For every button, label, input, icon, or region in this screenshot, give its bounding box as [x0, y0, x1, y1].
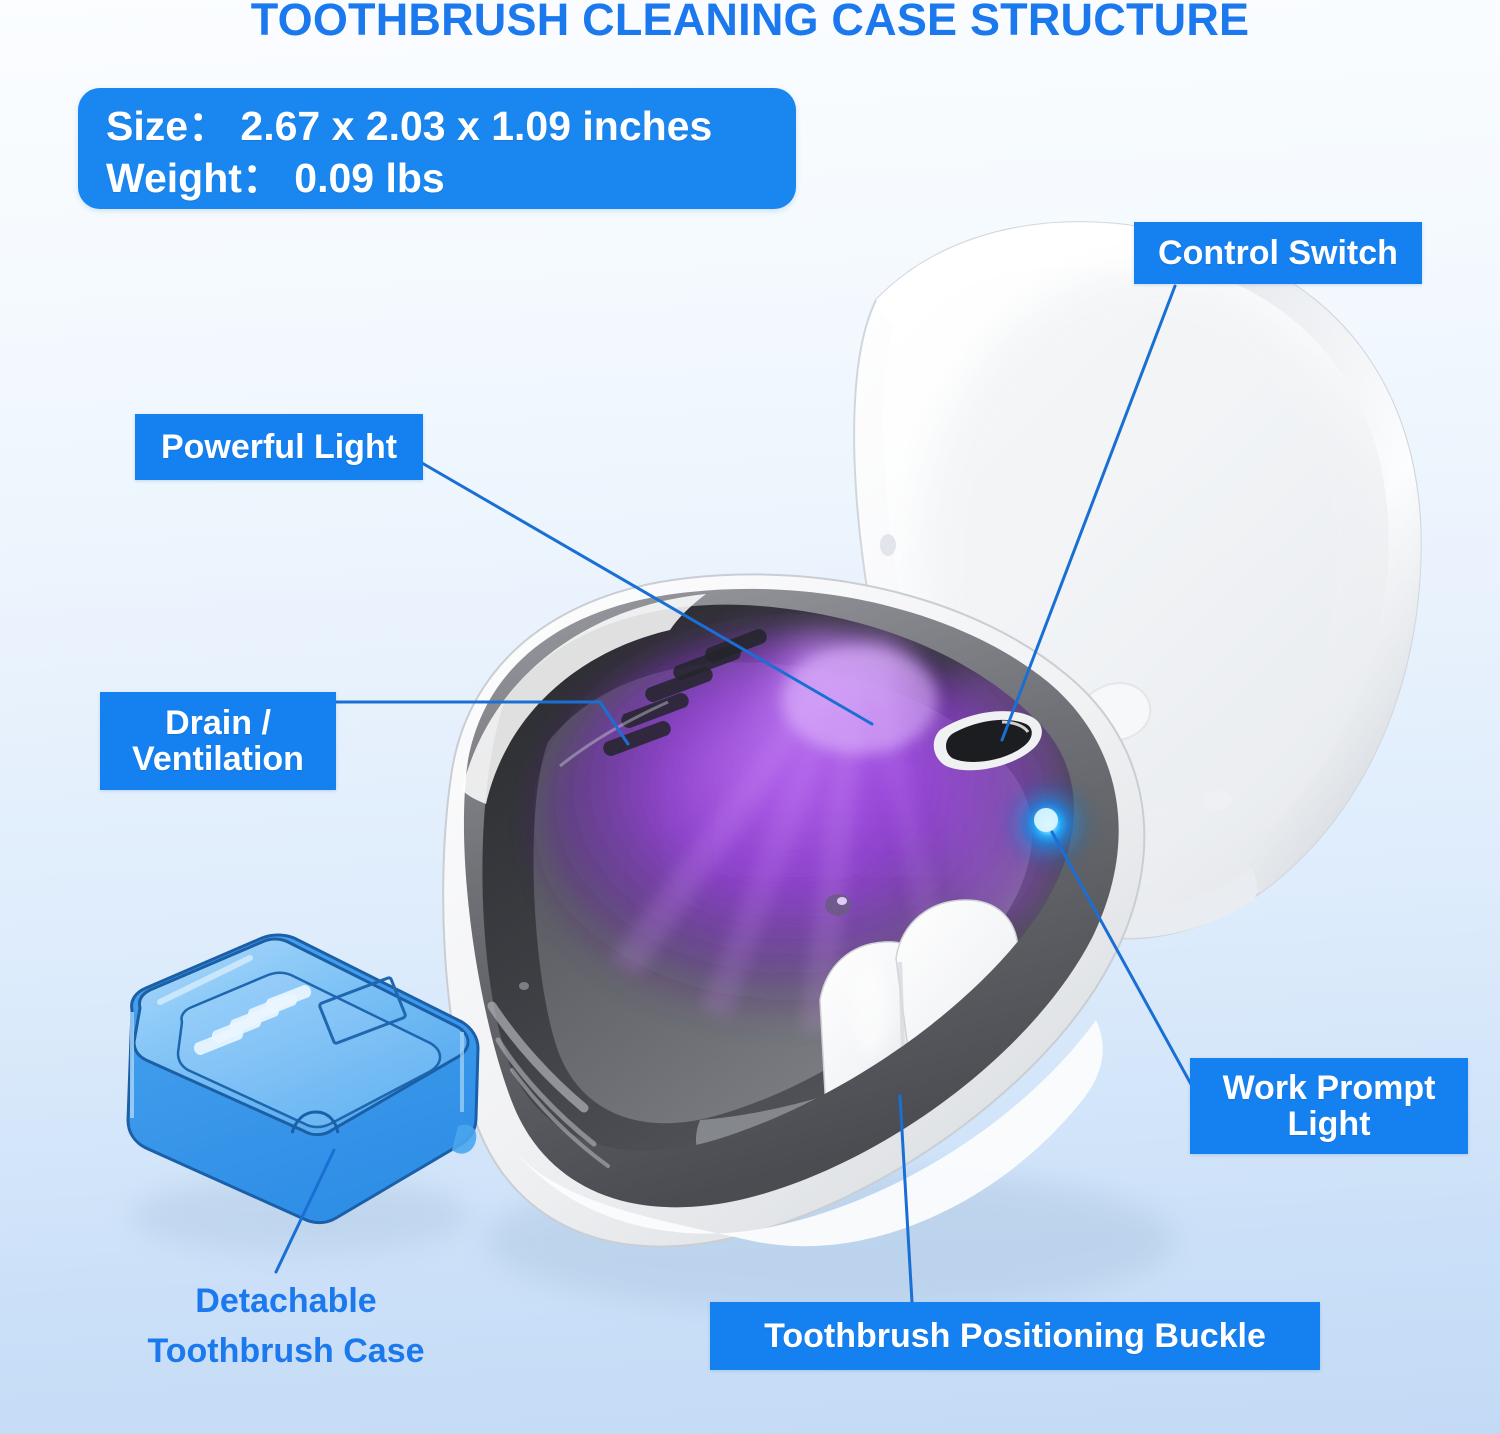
callout-toothbrush-positioning-buckle: Toothbrush Positioning Buckle — [710, 1302, 1320, 1370]
lid-dimple — [880, 534, 896, 556]
callout-work-prompt-light: Work Prompt Light — [1190, 1058, 1468, 1154]
callout-detachable-line-1: Detachable — [110, 1276, 462, 1326]
detachable-toothbrush-case — [128, 935, 478, 1223]
callout-buckle-label: Toothbrush Positioning Buckle — [764, 1317, 1266, 1356]
callout-powerful-light-label: Powerful Light — [161, 428, 397, 467]
lid-screw-boss — [1204, 790, 1232, 810]
callout-control-switch: Control Switch — [1134, 222, 1422, 284]
callout-detachable-line-2: Toothbrush Case — [110, 1326, 462, 1376]
callout-work-prompt-line-2: Light — [1287, 1106, 1370, 1142]
callout-powerful-light: Powerful Light — [135, 414, 423, 480]
case-base — [443, 574, 1144, 1246]
callout-work-prompt-line-1: Work Prompt — [1223, 1070, 1436, 1106]
callout-drain-line-1: Drain / — [165, 705, 271, 741]
spec-size: Size： 2.67 x 2.03 x 1.09 inches — [78, 100, 796, 152]
callout-drain-ventilation: Drain / Ventilation — [100, 692, 336, 790]
spec-box: Size： 2.67 x 2.03 x 1.09 inches Weight： … — [78, 88, 796, 209]
callout-control-switch-label: Control Switch — [1158, 234, 1398, 273]
callout-drain-line-2: Ventilation — [132, 741, 304, 777]
callout-detachable-toothbrush-case: Detachable Toothbrush Case — [110, 1276, 462, 1376]
page-title: TOOTHBRUSH CLEANING CASE STRUCTURE — [0, 0, 1500, 46]
uv-sensor-dot — [825, 894, 851, 916]
product-infographic: TOOTHBRUSH CLEANING CASE STRUCTURE Size：… — [0, 0, 1500, 1434]
spec-weight: Weight： 0.09 lbs — [78, 152, 796, 204]
work-prompt-light — [1002, 778, 1094, 870]
